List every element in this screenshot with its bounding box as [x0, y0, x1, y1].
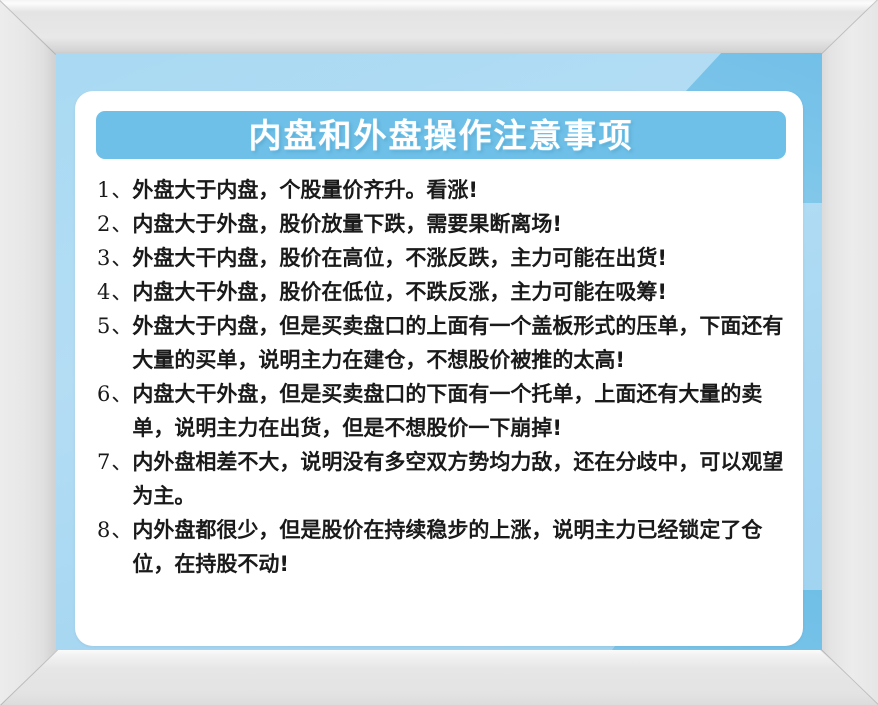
note-text: 内外盘都很少，但是股价在持续稳步的上涨，说明主力已经锁定了仓位，在持股不动!	[132, 513, 787, 581]
note-text: 外盘大于内盘，个股量价齐升。看涨!	[132, 173, 787, 207]
content-card: 内盘和外盘操作注意事项 1、外盘大于内盘，个股量价齐升。看涨!2、内盘大于外盘，…	[75, 91, 803, 646]
note-text: 内外盘相差不大，说明没有多空双方势均力敌，还在分歧中，可以观望为主。	[132, 445, 787, 513]
note-index: 6	[97, 377, 111, 411]
note-separator: 、	[111, 309, 132, 343]
note-item: 3、外盘大干内盘，股价在高位，不涨反跌，主力可能在出货!	[97, 241, 787, 275]
note-index: 4	[97, 275, 111, 309]
poster-title: 内盘和外盘操作注意事项	[249, 119, 634, 152]
title-banner: 内盘和外盘操作注意事项	[96, 111, 786, 159]
note-text: 内盘大于外盘，股价放量下跌，需要果断离场!	[132, 207, 787, 241]
frame-miter-bottom-left	[0, 649, 58, 705]
note-text: 内盘大干外盘，但是买卖盘口的下面有一个托单，上面还有大量的卖单，说明主力在出货，…	[132, 377, 787, 445]
note-item: 2、内盘大于外盘，股价放量下跌，需要果断离场!	[97, 207, 787, 241]
note-index: 7	[97, 445, 111, 479]
note-separator: 、	[111, 275, 132, 309]
note-separator: 、	[111, 377, 132, 411]
picture-frame: 内盘和外盘操作注意事项 1、外盘大于内盘，个股量价齐升。看涨!2、内盘大于外盘，…	[0, 0, 878, 705]
note-item: 1、外盘大于内盘，个股量价齐升。看涨!	[97, 173, 787, 207]
note-index: 2	[97, 207, 111, 241]
frame-miter-bottom-right	[820, 649, 878, 705]
note-index: 1	[97, 173, 111, 207]
frame-rail-left	[0, 0, 57, 705]
frame-miter-top-right	[821, 0, 878, 54]
note-index: 5	[97, 309, 111, 343]
note-item: 6、内盘大干外盘，但是买卖盘口的下面有一个托单，上面还有大量的卖单，说明主力在出…	[97, 377, 787, 445]
note-text: 外盘大干内盘，股价在高位，不涨反跌，主力可能在出货!	[132, 241, 787, 275]
note-text: 外盘大于内盘，但是买卖盘口的上面有一个盖板形式的压单，下面还有大量的买单，说明主…	[132, 309, 787, 377]
note-separator: 、	[111, 173, 132, 207]
note-separator: 、	[111, 445, 132, 479]
poster-artwork: 内盘和外盘操作注意事项 1、外盘大于内盘，个股量价齐升。看涨!2、内盘大于外盘，…	[56, 53, 822, 650]
frame-miter-top-left	[0, 0, 56, 55]
notes-list: 1、外盘大于内盘，个股量价齐升。看涨!2、内盘大于外盘，股价放量下跌，需要果断离…	[97, 173, 787, 581]
note-separator: 、	[111, 241, 132, 275]
note-text: 内盘大干外盘，股价在低位，不跌反涨，主力可能在吸筹!	[132, 275, 787, 309]
frame-rail-right	[820, 0, 878, 705]
frame-rail-top	[0, 0, 878, 54]
note-separator: 、	[111, 513, 132, 547]
note-index: 8	[97, 513, 111, 547]
note-separator: 、	[111, 207, 132, 241]
note-item: 4、内盘大干外盘，股价在低位，不跌反涨，主力可能在吸筹!	[97, 275, 787, 309]
note-item: 8、内外盘都很少，但是股价在持续稳步的上涨，说明主力已经锁定了仓位，在持股不动!	[97, 513, 787, 581]
note-item: 5、外盘大于内盘，但是买卖盘口的上面有一个盖板形式的压单，下面还有大量的买单，说…	[97, 309, 787, 377]
note-item: 7、内外盘相差不大，说明没有多空双方势均力敌，还在分歧中，可以观望为主。	[97, 445, 787, 513]
note-index: 3	[97, 241, 111, 275]
frame-rail-bottom	[0, 649, 878, 705]
